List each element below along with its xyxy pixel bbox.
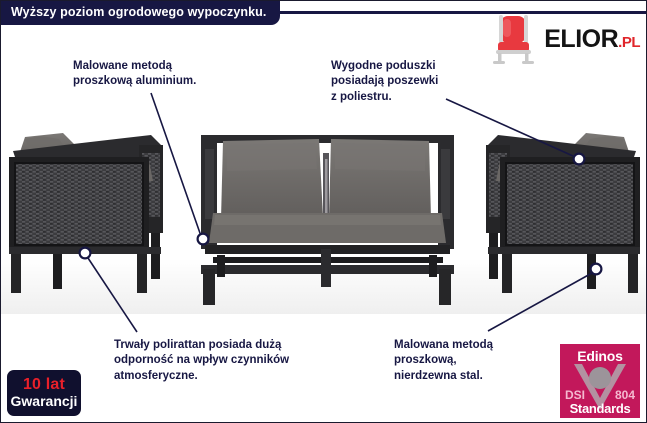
logo-tld: .PL	[618, 35, 640, 50]
logo-name: ELIOR	[544, 27, 618, 52]
edinos-standards-badge: Edinos DSI 804 Standards	[560, 344, 640, 418]
warranty-badge: 10 lat Gwarancji	[7, 370, 81, 416]
red-chair-icon	[488, 12, 540, 66]
brand-logo[interactable]: ELIOR.PL	[488, 12, 640, 66]
furniture-illustration	[1, 109, 647, 314]
edinos-code-left: DSI	[565, 388, 585, 402]
edinos-code-right: 804	[615, 388, 635, 402]
page-title: Wyższy poziom ogrodowego wypoczynku.	[11, 5, 266, 19]
warranty-years: 10 lat	[23, 377, 65, 394]
logo-wordmark: ELIOR.PL	[544, 27, 640, 52]
callout-durable-polyrattan: Trwały polirattan posiada dużą odporność…	[114, 338, 289, 384]
header-banner: Wyższy poziom ogrodowego wypoczynku.	[0, 0, 280, 25]
product-infographic: Wyższy poziom ogrodowego wypoczynku. ELI…	[0, 0, 647, 423]
callout-powder-coated-steel: Malowana metodą proszkową, nierdzewna st…	[394, 338, 493, 384]
warranty-label: Gwarancji	[11, 394, 78, 409]
edinos-title: Edinos	[560, 348, 640, 364]
callout-polyester-cushion-covers: Wygodne poduszki posiadają poszewki z po…	[331, 59, 438, 105]
edinos-standards-label: Standards	[560, 401, 640, 416]
callout-powder-coated-aluminium: Malowane metodą proszkową aluminium.	[73, 59, 196, 90]
